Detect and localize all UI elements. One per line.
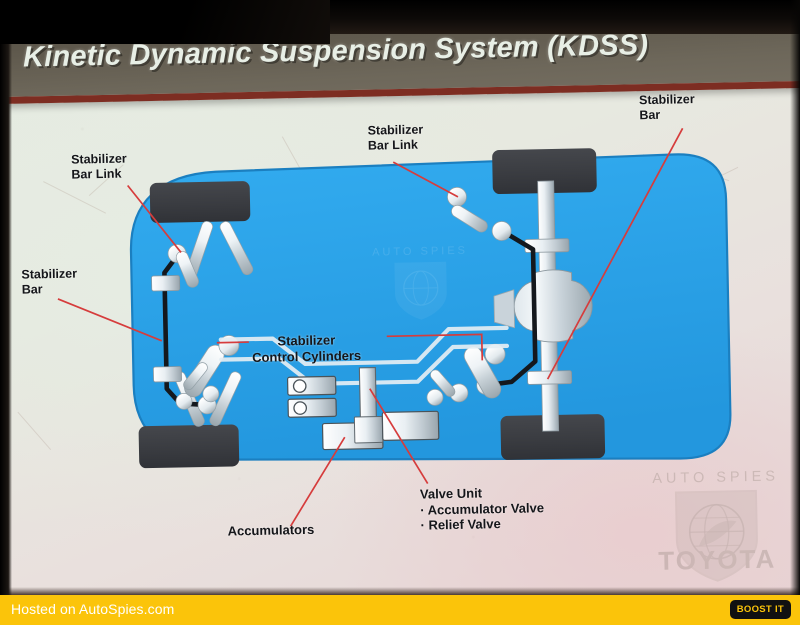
tire-front-left: [150, 181, 251, 223]
screenshot-root: Kinetic Dynamic Suspension System (KDSS): [0, 0, 800, 625]
label-stabilizer-bar-front-left: Stabilizer Bar: [21, 267, 77, 297]
screen-edge-left: [0, 0, 12, 600]
label-stabilizer-bar-link-rear-left: Stabilizer Bar Link: [367, 123, 423, 153]
footer-bar: Hosted on AutoSpies.com BOOST IT: [0, 595, 800, 625]
stabilizer-bar-bushing-front-1: [151, 275, 179, 291]
accumulator-lower: [288, 398, 336, 417]
valve-unit-center: [354, 416, 383, 443]
tire-front-right: [139, 424, 240, 468]
screen-edge-top-left: [0, 0, 330, 44]
screen-edge-right: [790, 0, 800, 600]
screen-edge-bottom: [0, 587, 800, 595]
boost-it-button[interactable]: BOOST IT: [730, 600, 791, 619]
kdss-diagram: Stabilizer Bar Link Stabilizer Bar Stabi…: [0, 0, 800, 622]
label-accumulators: Accumulators: [227, 522, 314, 539]
footer-host-text: Hosted on AutoSpies.com: [11, 601, 174, 617]
accumulator-upper: [288, 376, 336, 395]
label-valve-unit: Valve Unit · Accumulator Valve · Relief …: [420, 484, 545, 533]
projected-slide: Kinetic Dynamic Suspension System (KDSS): [0, 0, 800, 622]
diff-mount-bracket: [494, 290, 515, 328]
leader-control-cylinders-left: [217, 342, 249, 343]
label-stabilizer-control-cylinders: Stabilizer Control Cylinders: [252, 332, 362, 365]
stabilizer-bar-bushing-front-2: [153, 366, 181, 382]
boost-it-label: BOOST IT: [737, 604, 784, 615]
valve-unit-right: [382, 411, 439, 440]
label-stabilizer-bar-rear-right: Stabilizer Bar: [639, 92, 695, 122]
label-stabilizer-bar-link-front-left: Stabilizer Bar Link: [71, 151, 127, 181]
